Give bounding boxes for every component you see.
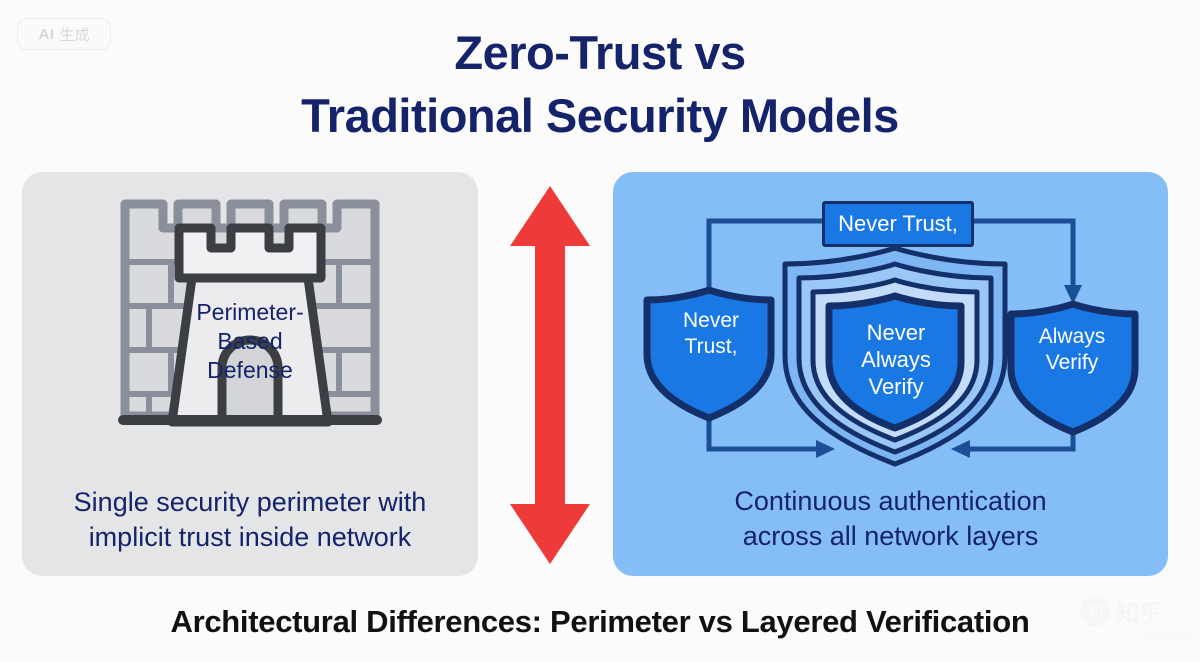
ai-generated-badge: AI 生成 xyxy=(17,18,111,50)
comparison-arrow xyxy=(507,182,593,568)
zero-trust-diagram: Never Trust, Never Trust, Never Always V… xyxy=(613,172,1168,482)
comparison-stage: Perimeter- Based Defense Single security… xyxy=(0,172,1200,578)
traditional-caption-line-2: implicit trust inside network xyxy=(22,520,478,554)
traditional-caption-line-1: Single security perimeter with xyxy=(22,485,478,519)
zero-trust-caption-line-2: across all network layers xyxy=(613,519,1168,553)
traditional-panel-caption: Single security perimeter with implicit … xyxy=(22,485,478,554)
page-title: Zero-Trust vs Traditional Security Model… xyxy=(0,22,1200,147)
castle-icon xyxy=(113,190,387,452)
double-headed-vertical-arrow-icon xyxy=(507,182,593,568)
page-title-line-1: Zero-Trust vs xyxy=(454,26,745,79)
castle-illustration: Perimeter- Based Defense xyxy=(113,190,387,452)
zero-trust-panel: Never Trust, Never Trust, Never Always V… xyxy=(613,172,1168,576)
traditional-security-panel: Perimeter- Based Defense Single security… xyxy=(22,172,478,576)
zero-trust-caption-line-1: Continuous authentication xyxy=(613,484,1168,518)
right-shield-icon xyxy=(1011,304,1135,432)
arrowhead-bottom-right xyxy=(951,440,970,458)
never-trust-box: Never Trust, xyxy=(822,201,974,247)
connector-bottom-left xyxy=(709,412,821,449)
page-title-line-2: Traditional Security Models xyxy=(0,85,1200,148)
arrowhead-bottom-left xyxy=(816,440,835,458)
left-shield-icon xyxy=(647,290,771,418)
zero-trust-panel-caption: Continuous authentication across all net… xyxy=(613,484,1168,553)
footer-caption: Architectural Differences: Perimeter vs … xyxy=(0,604,1200,640)
ai-badge-mark: AI xyxy=(38,26,54,43)
ai-badge-text: 生成 xyxy=(59,24,89,45)
